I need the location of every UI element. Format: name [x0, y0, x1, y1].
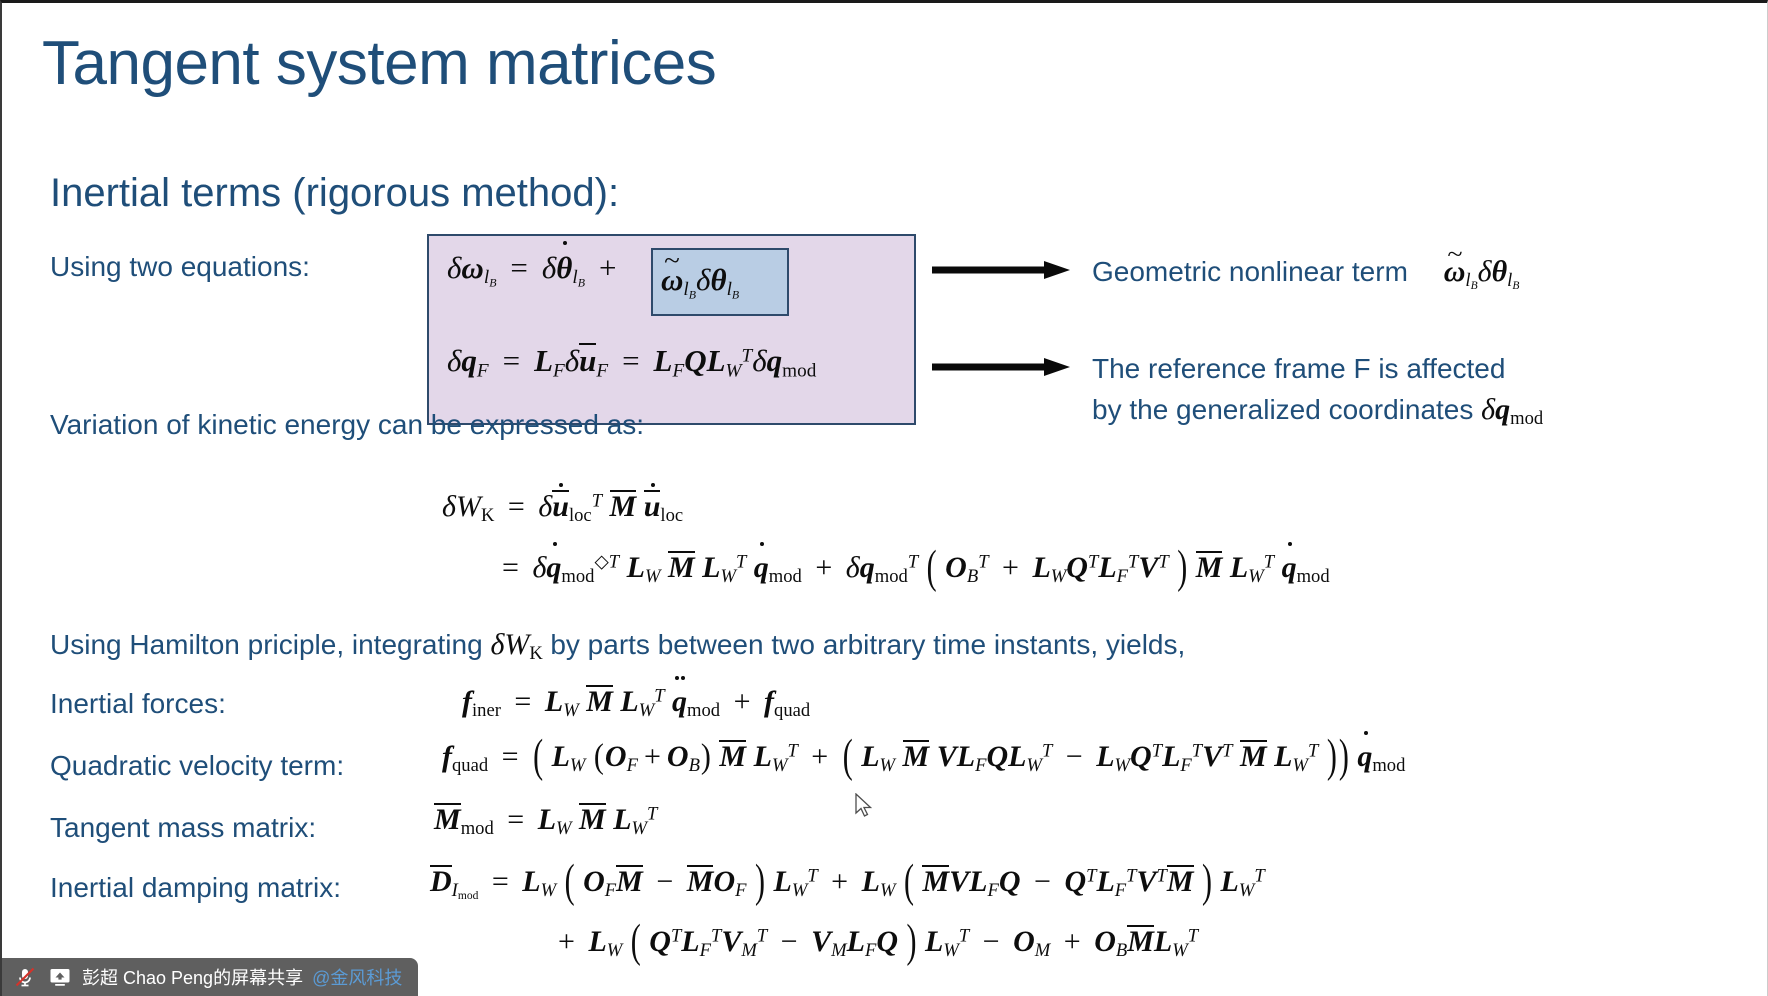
arrow-right-bottom	[932, 355, 1072, 379]
label-inertial-forces: Inertial forces:	[50, 688, 226, 720]
annotation-reference-frame: The reference frame F is affected by the…	[1092, 349, 1543, 431]
share-organization: @金风科技	[312, 964, 402, 990]
hamilton-text-after: by parts between two arbitrary time inst…	[550, 629, 1185, 660]
arrow-right-top	[932, 258, 1072, 282]
label-quadratic-velocity-term: Quadratic velocity term:	[50, 750, 344, 782]
annotation-geometric-nonlinear-text: Geometric nonlinear term	[1092, 256, 1408, 287]
equation-tangent-mass-matrix: Mmod = LW M LWT	[434, 803, 657, 837]
equation-geometric-nonlinear: ωlBδθlB	[661, 262, 739, 298]
microphone-muted-icon[interactable]	[12, 964, 38, 990]
equation-delta-omega: δωlB = δθlB +	[447, 250, 623, 286]
highlight-geometric-nonlinear-term: ωlBδθlB	[651, 248, 789, 316]
presentation-slide: Tangent system matrices Inertial terms (…	[0, 0, 1768, 996]
annotation-geometric-nonlinear-math: ωlBδθlB	[1444, 255, 1520, 288]
label-inertial-damping-matrix: Inertial damping matrix:	[50, 872, 341, 904]
page-title: Tangent system matrices	[42, 31, 716, 96]
equation-delta-q-F: δqF = LFδuF = LFQLWTδqmod	[447, 343, 816, 379]
hamilton-math-delta-W-K: δWK	[490, 628, 550, 661]
equation-inertial-forces: finer = LW M LWT qmod + fquad	[462, 685, 810, 719]
annotation-geometric-nonlinear: Geometric nonlinear term ωlBδθlB	[1092, 255, 1519, 289]
mouse-cursor	[855, 793, 875, 821]
label-variation-kinetic-energy: Variation of kinetic energy can be expre…	[50, 409, 644, 441]
label-using-two-equations: Using two equations:	[50, 251, 310, 283]
screen-share-icon[interactable]	[47, 964, 73, 990]
equation-inertial-damping-2: + LW ( QTLFTVMT − VMLFQ ) LWT − OM + OBM…	[558, 925, 1198, 959]
label-tangent-mass-matrix: Tangent mass matrix:	[50, 812, 316, 844]
screen-share-status-bar[interactable]: 彭超 Chao Peng的屏幕共享 @金风科技	[2, 958, 418, 996]
share-owner-title: 彭超 Chao Peng的屏幕共享	[82, 964, 303, 990]
equation-quadratic-velocity: fquad = ( LW (OF + OB) M LWT + ( LW M VL…	[442, 740, 1405, 774]
section-heading: Inertial terms (rigorous method):	[50, 171, 619, 216]
equation-kinetic-1: δWK = δulocT M uloc	[442, 490, 683, 524]
hamilton-text-before: Using Hamilton priciple, integrating	[50, 629, 483, 660]
annotation-reference-frame-line2: by the generalized coordinates δqmod	[1092, 389, 1543, 432]
equation-kinetic-2: = δqmod◇T LW M LWT qmod + δqmodT ( OBT +…	[502, 551, 1330, 585]
annotation-reference-frame-line1: The reference frame F is affected	[1092, 349, 1543, 389]
equation-inertial-damping-1: DImod = LW ( OFM − MOF ) LWT + LW ( MVLF…	[430, 865, 1265, 899]
annotation-delta-q-mod: δqmod	[1481, 393, 1543, 426]
hamilton-principle-line: Using Hamilton priciple, integrating δWK…	[50, 628, 1185, 662]
